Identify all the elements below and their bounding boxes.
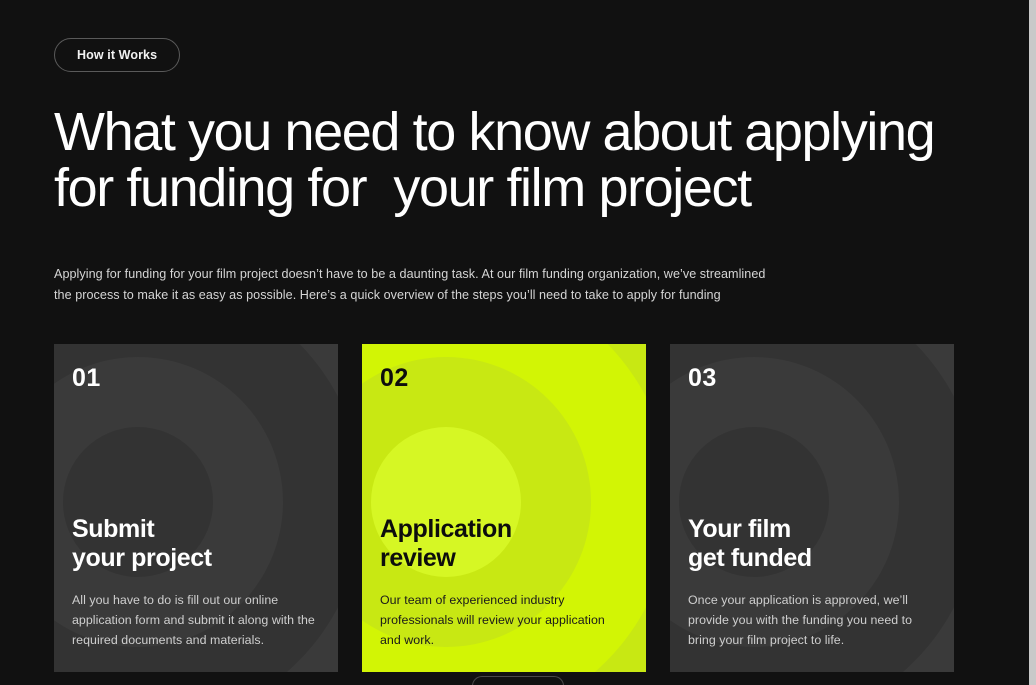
badge-row: How it Works [54,0,982,72]
steps-card-list: 01 Submit your project All you have to d… [54,344,954,672]
step-content: Your film get funded Once your applicati… [688,510,936,672]
step-card-03[interactable]: 03 Your film get funded Once your applic… [670,344,954,672]
step-content: Application review Our team of experienc… [380,515,628,672]
scrollbar-track[interactable] [1029,0,1036,685]
step-content: Submit your project All you have to do i… [72,515,320,672]
how-it-works-badge[interactable]: How it Works [54,38,180,72]
step-description: Our team of experienced industry profess… [380,590,628,650]
intro-paragraph: Applying for funding for your film proje… [54,264,784,305]
step-description: Once your application is approved, we’ll… [688,590,936,650]
step-number: 01 [72,366,320,391]
step-number: 02 [380,366,628,391]
step-card-02[interactable]: 02 Application review Our team of experi… [362,344,646,672]
step-title: Submit your project [72,515,320,574]
page-container: How it Works What you need to know about… [0,0,1036,685]
page-title: What you need to know about applying for… [54,105,954,216]
step-number: 03 [688,366,936,391]
step-title: Application review [380,515,628,574]
step-title: Your film get funded [688,515,936,574]
scrollbar-thumb[interactable] [1029,0,1036,685]
step-card-01[interactable]: 01 Submit your project All you have to d… [54,344,338,672]
step-description: All you have to do is fill out our onlin… [72,590,320,650]
bottom-peeking-control[interactable] [472,676,564,685]
